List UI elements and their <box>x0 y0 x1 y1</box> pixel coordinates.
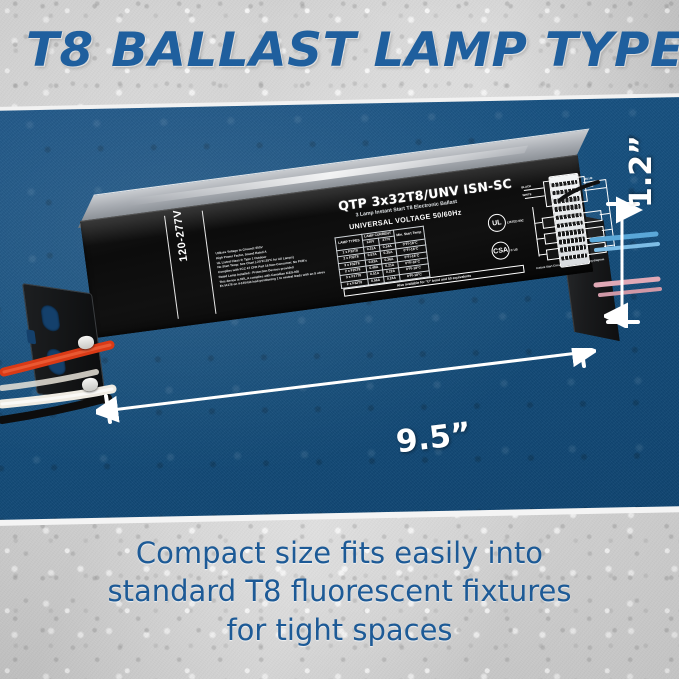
ul-mark-text: UL <box>492 219 502 227</box>
page-title: T8 BALLAST LAMP TYPE <box>26 16 666 86</box>
legend-row <box>557 220 583 228</box>
csa-mark-text: CSA <box>493 246 509 255</box>
legend-row <box>554 204 580 212</box>
csa-certification-label: C US <box>510 247 518 252</box>
length-tick-left <box>106 396 110 422</box>
legend-row <box>561 253 587 261</box>
bracket-notch <box>26 329 36 344</box>
caption-line-3: for tight spaces <box>0 611 679 649</box>
ul-certification-icon: UL <box>487 213 507 233</box>
height-dimension-label: 1.2” <box>624 135 659 208</box>
length-arrow-line <box>112 353 578 410</box>
label-divider-rule <box>202 211 217 314</box>
legend-row <box>560 245 586 253</box>
caption-block: Compact size fits easily into standard T… <box>0 534 679 649</box>
diagram-wire <box>532 207 539 257</box>
height-arrow <box>604 196 674 328</box>
diagram-wire <box>536 238 544 240</box>
ul-certification-label: LISTED 60C <box>507 218 524 224</box>
diagram-wire <box>538 254 546 256</box>
length-arrow <box>96 348 596 468</box>
caption-line-1: Compact size fits easily into <box>0 534 679 572</box>
diagram-wire <box>534 222 542 224</box>
bracket-mounting-hole <box>46 348 67 376</box>
legend-row <box>552 188 578 196</box>
legend-row <box>553 196 579 204</box>
csa-certification-icon: CSA <box>491 241 511 261</box>
legend-row <box>559 237 585 245</box>
height-dimension-callout: 1.2” <box>604 196 674 328</box>
voltage-range-text: 120-277V <box>171 209 190 263</box>
legend-row <box>555 212 581 220</box>
page-title-text: T8 BALLAST LAMP TYPE <box>26 16 679 86</box>
length-dimension-callout: 9.5” <box>96 348 596 468</box>
infographic-canvas: T8 BALLAST LAMP TYPE 120-277V <box>0 0 679 679</box>
length-tick-right <box>580 348 584 366</box>
label-fine-print: Utilizes Voltage to Ground: 600V High Po… <box>215 236 339 290</box>
legend-row <box>551 180 577 188</box>
caption-line-2: standard T8 fluorescent fixtures <box>0 572 679 610</box>
bracket-mounting-hole <box>40 304 61 332</box>
legend-row <box>558 229 584 237</box>
